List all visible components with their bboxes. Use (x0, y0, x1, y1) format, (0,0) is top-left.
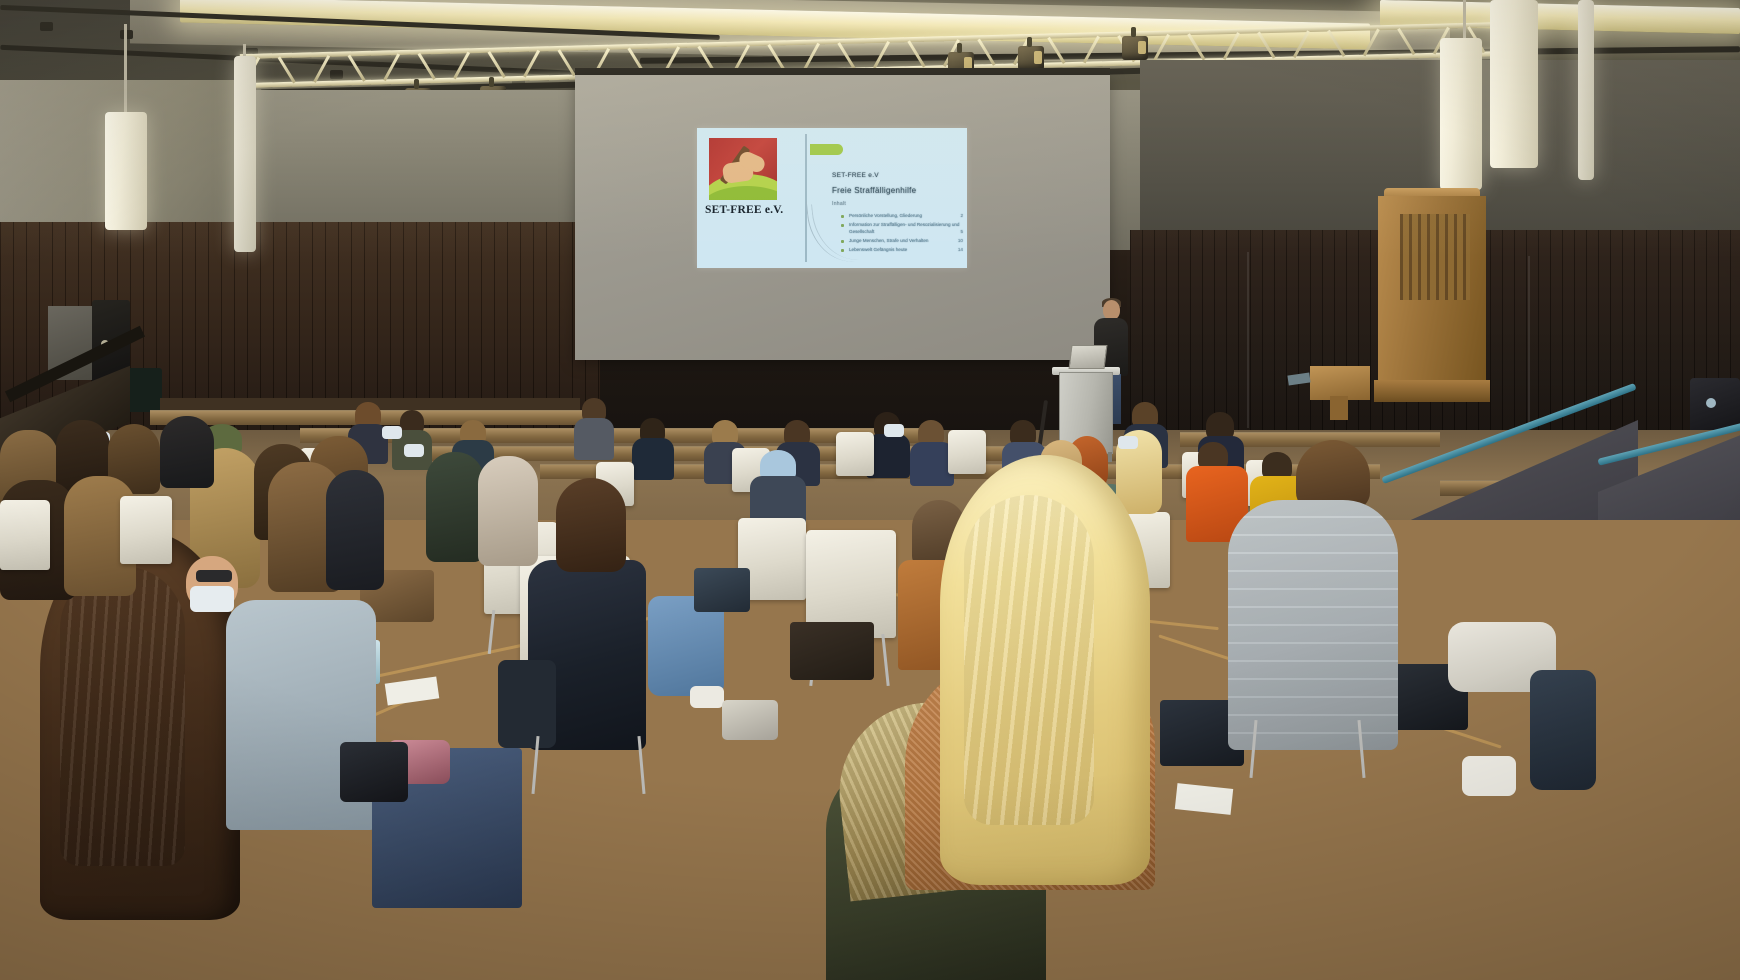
audience-chair (948, 430, 986, 474)
slide-bullet: Persönliche Vorstellung, Gliederung 2 (841, 213, 963, 219)
shoe (1462, 756, 1516, 796)
foreground-audience-member-hair (940, 455, 1150, 885)
stage-spotlight (1122, 36, 1148, 60)
backpack (694, 568, 750, 612)
organ-pipes (1400, 214, 1470, 300)
presentation-slide: SET-FREE e.V. SET-FREE e.V Freie Straffä… (697, 128, 967, 268)
audience-chair (120, 496, 172, 564)
slide-headline: Freie Straffälligenhilfe (832, 186, 916, 195)
presenter-head (1103, 300, 1120, 320)
audience-chair (0, 500, 50, 570)
backpack (498, 660, 556, 748)
slide-bullet-page: 2 (960, 213, 963, 219)
audience-member-torso (1530, 670, 1596, 790)
door-seam (1247, 252, 1249, 428)
audience-member (426, 452, 484, 562)
shoe (690, 686, 724, 708)
cylindrical-pendant-lamp (105, 112, 147, 230)
cylindrical-pendant-lamp (1440, 38, 1482, 190)
slide-bullet: Junge Menschen, Strafe und Verhalten 10 (841, 238, 963, 244)
cylindrical-pendant-lamp (1490, 0, 1538, 168)
slide-bullet-page: 10 (958, 238, 963, 244)
face-mask (1118, 436, 1138, 449)
slide-bullet-text: Persönliche Vorstellung, Gliederung (849, 213, 922, 218)
slide-subhead: Inhalt (832, 201, 846, 207)
audience-chair (836, 432, 874, 476)
slide-bullet-text: Lebenswelt Gefängnis heute (849, 247, 907, 252)
face-mask (382, 426, 402, 439)
presenter-laptop (1069, 345, 1108, 369)
audience-member-coat (1228, 500, 1398, 750)
wooden-pulpit (1310, 366, 1370, 400)
stage-spotlight (1018, 46, 1044, 70)
camera (340, 742, 408, 802)
slide-logo-caption: SET-FREE e.V. (705, 204, 789, 216)
set-free-logo (709, 138, 777, 200)
pulpit-post (1330, 396, 1348, 420)
audience-member (478, 456, 538, 566)
slide-bullet-page: 14 (958, 247, 963, 253)
auditorium-photo: SET-FREE e.V. SET-FREE e.V Freie Straffä… (0, 0, 1740, 980)
lectern-leg (1108, 452, 1112, 462)
conduit-clip (40, 22, 53, 31)
projection-screen: SET-FREE e.V. SET-FREE e.V Freie Straffä… (575, 75, 1110, 360)
audience-member (160, 416, 214, 488)
audience-member (326, 470, 384, 590)
cylindrical-pendant-lamp-slim (1578, 0, 1594, 180)
slide-bullet-text: Junge Menschen, Strafe und Verhalten (849, 238, 928, 243)
face-mask (884, 424, 904, 437)
face-mask (404, 444, 424, 457)
slide-bullet-list: Persönliche Vorstellung, Gliederung 2 In… (841, 213, 963, 257)
face-mask (190, 586, 234, 612)
slide-divider (805, 134, 807, 262)
slide-accent-tab (810, 144, 843, 155)
organ-base (1374, 380, 1490, 402)
cylindrical-pendant-lamp-slim (234, 56, 256, 252)
slide-bullet-text: Information zur Straffälligen- und Resoz… (849, 222, 959, 233)
backpack (790, 622, 874, 680)
pendant-cord (1463, 0, 1466, 40)
slide-bullet-page: 5 (960, 229, 963, 235)
eyeglasses (196, 570, 232, 582)
slide-bullet: Lebenswelt Gefängnis heute 14 (841, 247, 963, 253)
lunchbox (722, 700, 778, 740)
speaker-driver (1706, 398, 1716, 408)
slide-org-line: SET-FREE e.V (832, 172, 879, 179)
door-seam (1528, 256, 1530, 426)
slide-bullet: Information zur Straffälligen- und Resoz… (841, 222, 963, 234)
pendant-cord (124, 24, 127, 124)
